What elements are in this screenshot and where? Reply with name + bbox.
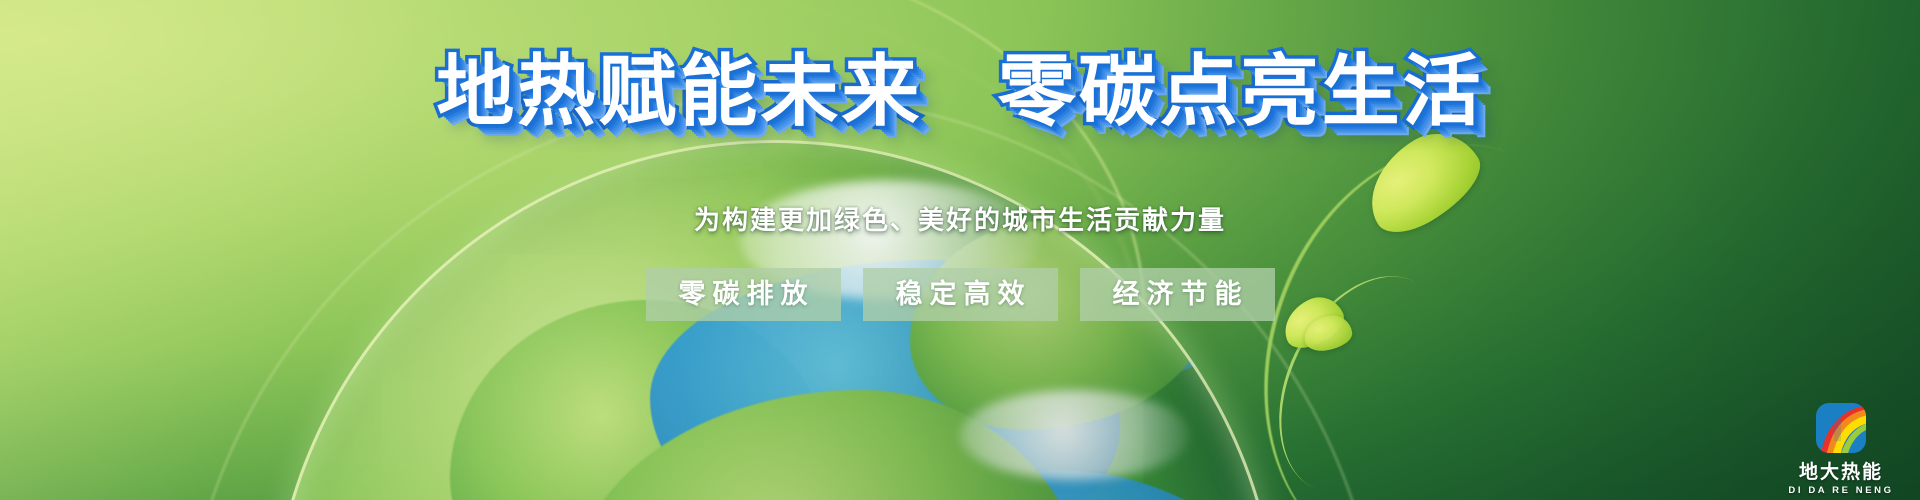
- banner-content: 地热赋能未来 零碳点亮生活 为构建更加绿色、美好的城市生活贡献力量 零碳排放 稳…: [0, 0, 1920, 500]
- logo-name-cn: 地大热能: [1780, 463, 1902, 483]
- headline-part-1: 地热赋能未来: [436, 47, 922, 135]
- feature-tag-economic-saving[interactable]: 经济节能: [1080, 268, 1275, 321]
- feature-tag-stable-efficient[interactable]: 稳定高效: [863, 268, 1058, 321]
- promo-banner: 地热赋能未来 零碳点亮生活 为构建更加绿色、美好的城市生活贡献力量 零碳排放 稳…: [0, 0, 1920, 500]
- logo-name-en: DI DA RE NENG: [1780, 485, 1902, 496]
- feature-tag-list: 零碳排放 稳定高效 经济节能: [0, 268, 1920, 321]
- logo-mark-icon: [1812, 401, 1870, 459]
- banner-subtitle: 为构建更加绿色、美好的城市生活贡献力量: [0, 200, 1920, 237]
- banner-headline: 地热赋能未来 零碳点亮生活: [0, 52, 1920, 130]
- feature-tag-zero-carbon[interactable]: 零碳排放: [646, 268, 841, 321]
- company-logo[interactable]: 地大热能 DI DA RE NENG: [1780, 401, 1902, 496]
- headline-part-2: 零碳点亮生活: [998, 47, 1484, 135]
